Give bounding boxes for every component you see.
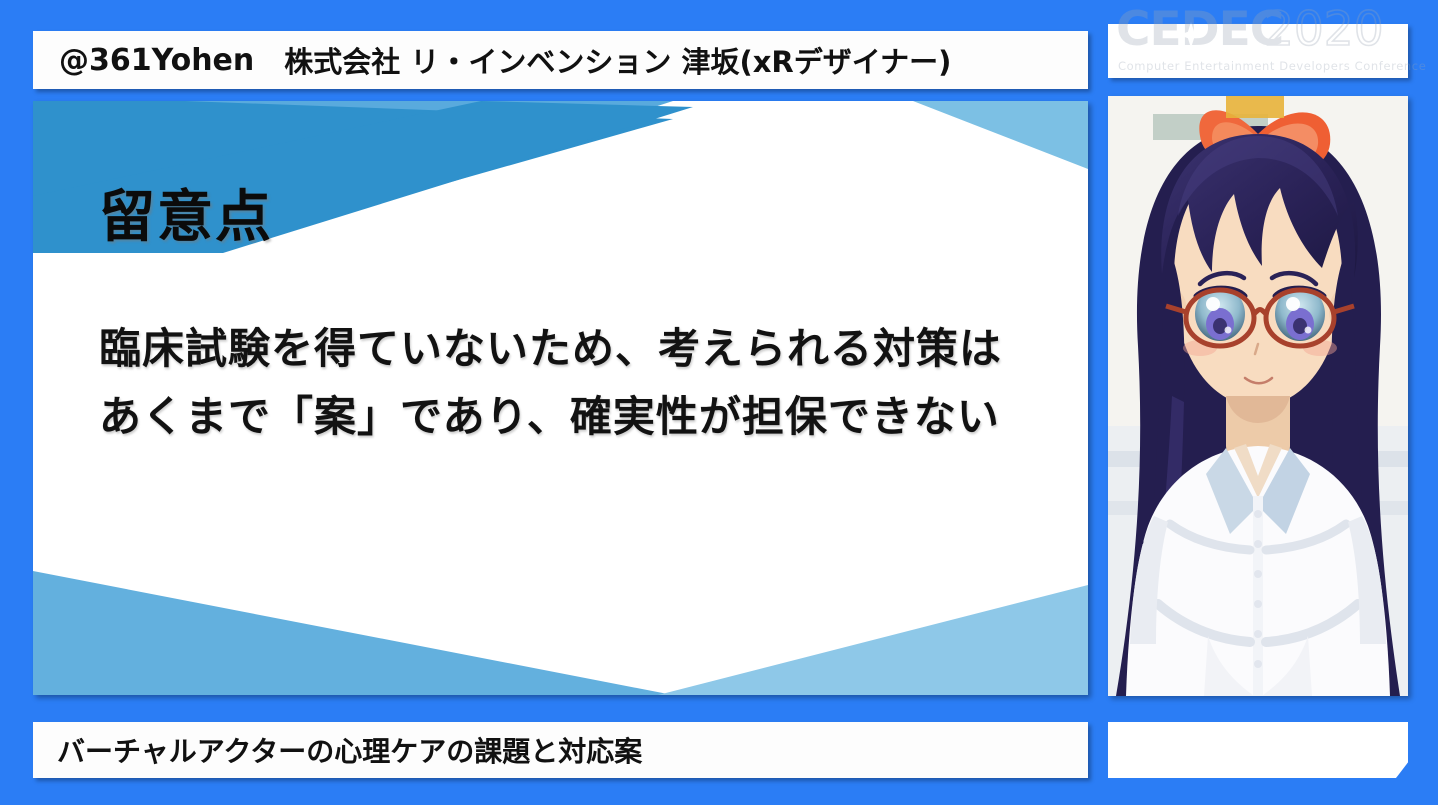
session-title: バーチャルアクターの心理ケアの課題と対応案 <box>57 730 642 770</box>
slide-content: 留意点 臨床試験を得ていないため、考えられる対策は あくまで「案」であり、確実性… <box>33 101 1088 695</box>
slide-body-line: あくまで「案」であり、確実性が担保できない <box>99 383 1028 451</box>
speaker-handle: @361Yohen <box>59 43 254 78</box>
speaker-affiliation: 株式会社 リ・インベンション 津坂(xRデザイナー) <box>284 39 951 81</box>
slide-title: 留意点 <box>99 187 1028 249</box>
cedec-logo-panel: CEDEC 2020 Computer Entertainment Develo… <box>1108 24 1408 78</box>
side-info-panel <box>1108 722 1408 778</box>
cedec-tagline-text: Computer Entertainment Developers Confer… <box>1118 59 1426 73</box>
cedec-logo-icon: CEDEC 2020 Computer Entertainment Develo… <box>1116 6 1408 90</box>
session-caption-bar: バーチャルアクターの心理ケアの課題と対応案 <box>33 722 1088 778</box>
presentation-slide: 留意点 臨床試験を得ていないため、考えられる対策は あくまで「案」であり、確実性… <box>33 101 1088 695</box>
speaker-info-bar: @361Yohen 株式会社 リ・インベンション 津坂(xRデザイナー) <box>33 31 1088 89</box>
stream-layout: @361Yohen 株式会社 リ・インベンション 津坂(xRデザイナー) 留意点… <box>0 0 1438 805</box>
ribbon-tail <box>1226 96 1284 118</box>
slide-body-line: 臨床試験を得ていないため、考えられる対策は <box>99 315 1028 383</box>
avatar-illustration <box>1108 96 1408 696</box>
avatar-video-panel <box>1108 96 1408 696</box>
slide-body: 臨床試験を得ていないため、考えられる対策は あくまで「案」であり、確実性が担保で… <box>99 315 1028 451</box>
cedec-brand-text: CEDEC <box>1116 6 1283 53</box>
cedec-year-text: 2020 <box>1264 6 1384 53</box>
